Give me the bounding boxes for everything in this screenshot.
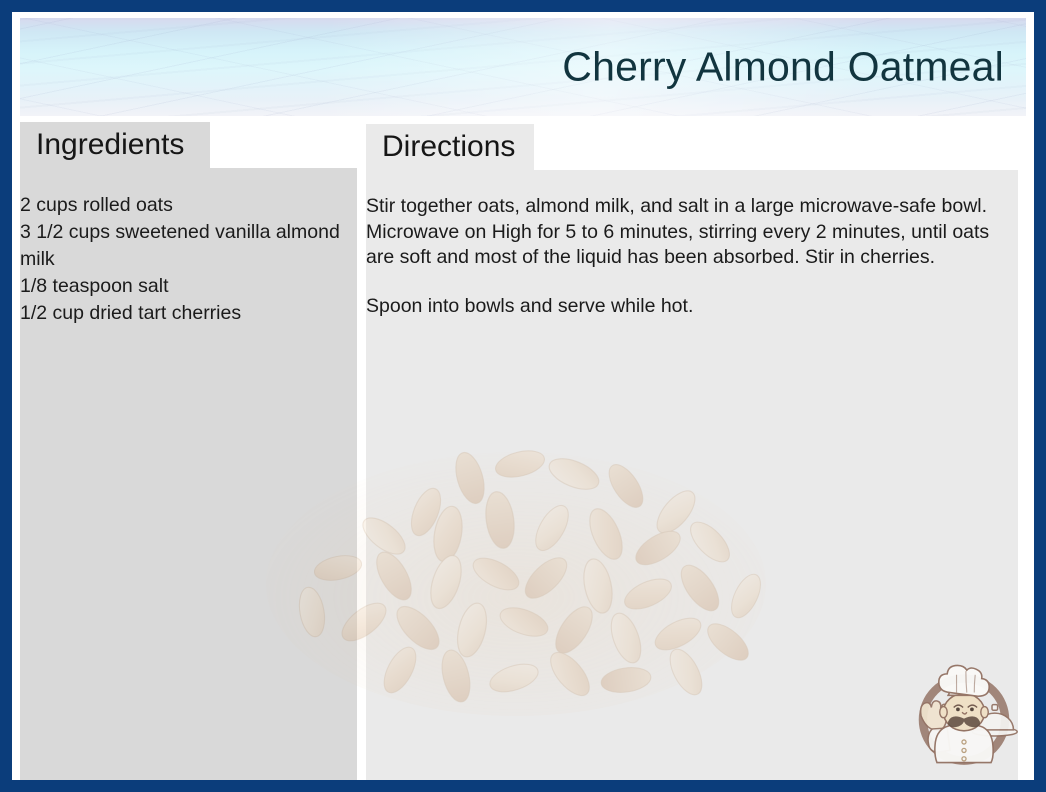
directions-text: Stir together oats, almond milk, and sal… bbox=[366, 194, 1016, 319]
list-item: 1/2 cup dried tart cherries bbox=[20, 300, 342, 327]
directions-paragraph: Stir together oats, almond milk, and sal… bbox=[366, 194, 1016, 271]
recipe-slide: Cherry Almond Oatmeal Ingredients 2 cups… bbox=[0, 0, 1046, 792]
title-banner: Cherry Almond Oatmeal bbox=[20, 18, 1026, 116]
list-item: 2 cups rolled oats bbox=[20, 192, 342, 219]
ingredients-list: 2 cups rolled oats 3 1/2 cups sweetened … bbox=[20, 192, 342, 327]
chef-mascot-logo bbox=[908, 658, 1020, 770]
ingredients-heading-tab: Ingredients bbox=[20, 122, 210, 168]
list-item: 3 1/2 cups sweetened vanilla almond milk bbox=[20, 219, 342, 273]
page-title: Cherry Almond Oatmeal bbox=[562, 44, 1004, 91]
slide-frame: Cherry Almond Oatmeal Ingredients 2 cups… bbox=[12, 12, 1034, 780]
ingredients-heading: Ingredients bbox=[36, 128, 184, 162]
list-item: 1/8 teaspoon salt bbox=[20, 273, 342, 300]
directions-heading-tab: Directions bbox=[366, 124, 534, 170]
directions-paragraph: Spoon into bowls and serve while hot. bbox=[366, 294, 1016, 320]
directions-heading: Directions bbox=[382, 130, 515, 164]
